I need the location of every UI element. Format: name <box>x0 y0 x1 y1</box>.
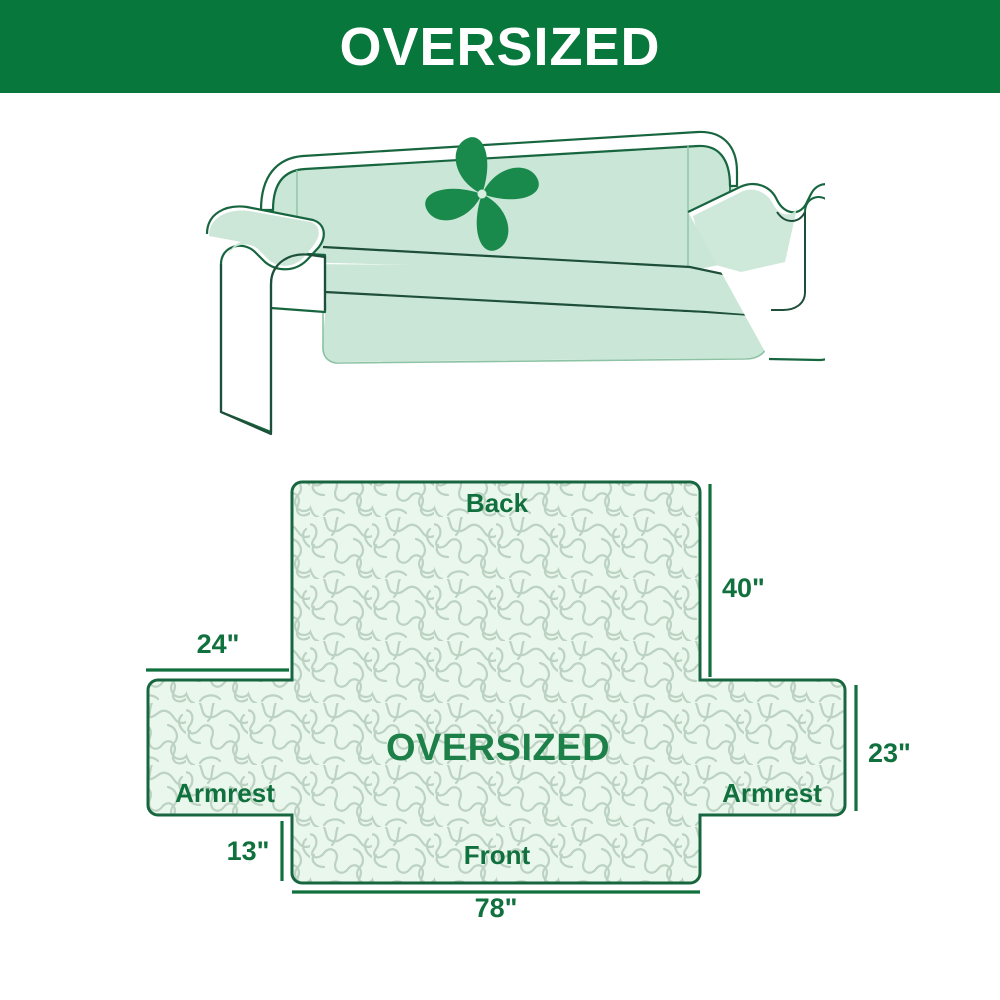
dimension-label-front-drop: 13" <box>227 836 270 866</box>
sofa-drawing <box>185 112 825 442</box>
part-label-front: Front <box>464 840 531 870</box>
page-title: OVERSIZED <box>339 20 660 74</box>
part-label-armrest-right: Armrest <box>722 778 822 808</box>
sofa-illustration <box>185 112 825 442</box>
part-label-back: Back <box>466 488 529 518</box>
dimension-label-armrest-depth: 24" <box>197 629 240 659</box>
cover-outline-shape <box>148 482 845 883</box>
diagram-center-size-label: OVERSIZED <box>386 727 610 769</box>
part-label-armrest-left: Armrest <box>175 778 275 808</box>
dimension-diagram: 40" 23" 24" 13" 78" Back Front Armrest A… <box>0 455 1000 925</box>
dimension-label-front-width: 78" <box>475 893 518 923</box>
flat-pattern-drawing: 40" 23" 24" 13" 78" Back Front Armrest A… <box>0 455 1000 925</box>
dimension-label-armrest-height: 23" <box>868 738 911 768</box>
dimension-label-back-height: 40" <box>722 573 765 603</box>
header-banner: OVERSIZED <box>0 0 1000 93</box>
